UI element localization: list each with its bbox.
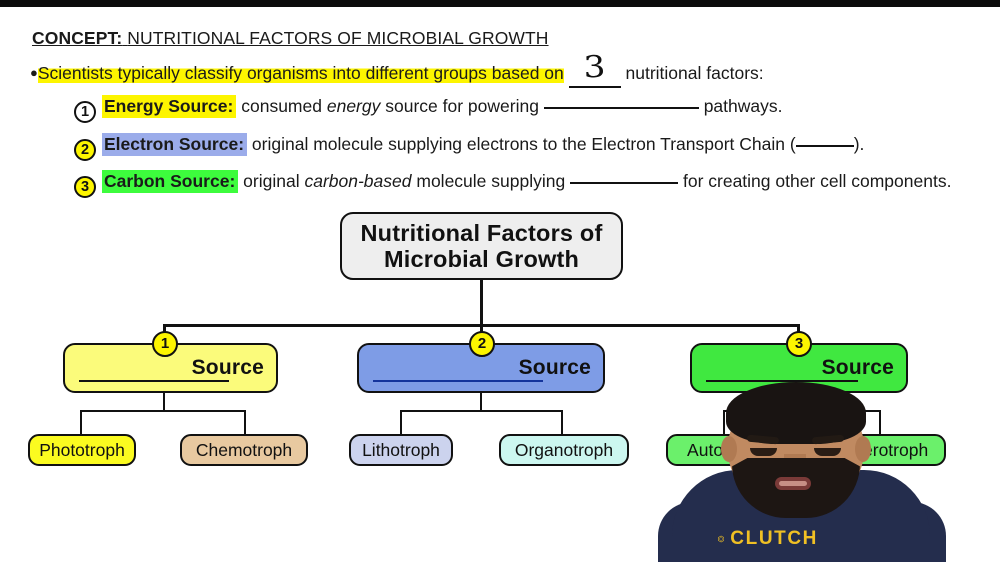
factor-row-carbon: 3Carbon Source: original carbon-based mo… xyxy=(74,171,951,198)
factor-text-3c: for creating other cell components. xyxy=(683,171,951,191)
connector-root-stem xyxy=(480,280,483,325)
factor-row-energy: 1Energy Source: consumed energy source f… xyxy=(74,96,783,123)
connector-sub-drop-2b xyxy=(561,410,563,435)
factor-term-1: Energy Source: xyxy=(102,95,236,118)
factor-number-2: 2 xyxy=(74,139,96,161)
branch-badge-2: 2 xyxy=(469,331,495,357)
handwritten-answer: 3 xyxy=(583,58,606,79)
blank-energy-pathways xyxy=(544,107,699,109)
connector-sub-stem-3 xyxy=(797,393,799,411)
factor-text-2c: ). xyxy=(854,134,865,154)
shirt-logo-text: CLUTCH xyxy=(730,528,818,550)
factor-term-3: Carbon Source: xyxy=(102,170,238,193)
slide-canvas: CONCEPT: NUTRITIONAL FACTORS OF MICROBIA… xyxy=(0,0,1000,562)
branch-label-1: Source xyxy=(192,356,264,380)
intro-bullet: ●Scientists typically classify organisms… xyxy=(30,62,764,88)
factor-text-2a: original molecule supplying electrons to… xyxy=(252,134,796,154)
blank-carbon-source xyxy=(706,380,858,382)
root-node-line2: Microbial Growth xyxy=(360,246,602,272)
connector-sub-drop-1a xyxy=(80,410,82,435)
blank-carbon xyxy=(570,182,678,184)
blank-factor-count: 3 xyxy=(569,62,621,88)
leaf-node-organotroph: Organotroph xyxy=(499,434,629,466)
presenter-lip xyxy=(779,481,807,486)
concept-label: CONCEPT: xyxy=(32,28,122,48)
connector-sub-drop-3a xyxy=(723,410,725,435)
blank-etc xyxy=(796,145,854,147)
letterbox-bar xyxy=(0,0,1000,7)
leaf-node-lithotroph: Lithotroph xyxy=(349,434,453,466)
concept-title: NUTRITIONAL FACTORS OF MICROBIAL GROWTH xyxy=(127,28,548,48)
factor-italic-1: energy xyxy=(327,96,381,116)
factor-row-electron: 2Electron Source: original molecule supp… xyxy=(74,134,864,161)
connector-sub-stem-1 xyxy=(163,393,165,411)
factor-text-1a: consumed xyxy=(241,96,322,116)
intro-bullet-text: Scientists typically classify organisms … xyxy=(38,63,564,83)
shirt-logo: CLUTCH xyxy=(718,524,818,554)
factor-text-3b: molecule supplying xyxy=(416,171,565,191)
connector-sub-drop-1b xyxy=(244,410,246,435)
root-node-nutritional-factors: Nutritional Factors of Microbial Growth xyxy=(340,212,623,280)
presenter-shoulder-left xyxy=(658,502,728,562)
intro-bullet-text-after: nutritional factors: xyxy=(626,63,764,83)
hexagon-icon xyxy=(718,525,724,553)
leaf-node-chemotroph: Chemotroph xyxy=(180,434,308,466)
factor-text-1b: source for powering xyxy=(385,96,539,116)
factor-text-1c: pathways. xyxy=(704,96,783,116)
presenter-shoulder-right xyxy=(872,502,946,562)
connector-sub-stem-2 xyxy=(480,393,482,411)
blank-electron-source xyxy=(373,380,543,382)
connector-sub-bus-3 xyxy=(723,410,881,412)
bullet-icon: ● xyxy=(30,65,38,80)
blank-energy-source xyxy=(79,380,229,382)
factor-text-3a: original xyxy=(243,171,299,191)
factor-number-3: 3 xyxy=(74,176,96,198)
connector-sub-drop-3b xyxy=(879,410,881,435)
branch-label-3: Source xyxy=(822,356,894,380)
presenter-collar xyxy=(760,468,842,490)
branch-badge-3: 3 xyxy=(786,331,812,357)
root-node-line1: Nutritional Factors of xyxy=(360,220,602,246)
leaf-node-phototroph: Phototroph xyxy=(28,434,136,466)
connector-sub-drop-2a xyxy=(400,410,402,435)
presenter-beard xyxy=(732,458,860,518)
presenter-nose xyxy=(784,454,806,478)
factor-italic-3: carbon-based xyxy=(304,171,411,191)
connector-sub-bus-1 xyxy=(80,410,246,412)
factor-number-1: 1 xyxy=(74,101,96,123)
presenter-mouth xyxy=(775,477,811,490)
presenter-shirt xyxy=(672,470,930,562)
leaf-node-autotroph: Autotroph xyxy=(666,434,784,466)
factor-term-2: Electron Source: xyxy=(102,133,247,156)
branch-label-2: Source xyxy=(519,356,591,380)
connector-sub-bus-2 xyxy=(400,410,563,412)
presenter-webcam-overlay: CLUTCH xyxy=(600,382,1000,562)
branch-badge-1: 1 xyxy=(152,331,178,357)
leaf-node-heterotroph: Heterotroph xyxy=(818,434,946,466)
concept-heading: CONCEPT: NUTRITIONAL FACTORS OF MICROBIA… xyxy=(32,28,549,49)
